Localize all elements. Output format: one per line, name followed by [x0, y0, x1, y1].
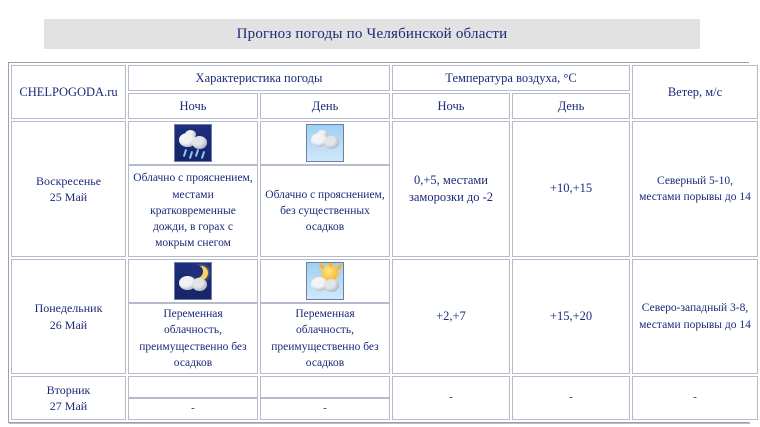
forecast-table: CHELPOGODA.ru Характеристика погоды Темп… [9, 63, 760, 422]
cloudy-day-icon [306, 124, 344, 162]
day-name: Вторник [16, 382, 121, 398]
header-temp-day: День [512, 93, 630, 119]
day-name: Воскресенье [16, 173, 121, 189]
day-date: 26 Май [16, 317, 121, 333]
temp-night-value: 0,+5, местами заморозки до -2 [392, 121, 510, 257]
table-row: Воскресенье 25 Май [11, 121, 758, 257]
day-date: 27 Май [16, 398, 121, 414]
header-weather-night: Ночь [128, 93, 258, 119]
page-title: Прогноз погоды по Челябинской области [237, 26, 508, 43]
table-row: Понедельник 26 Май [11, 259, 758, 374]
weather-day-cell: - [260, 376, 390, 420]
forecast-day-label: Вторник 27 Май [11, 376, 126, 420]
weather-night-cell: Переменная облачность, преимущественно б… [128, 259, 258, 374]
moon-clouds-night-icon [174, 262, 212, 300]
day-date: 25 Май [16, 189, 121, 205]
day-icon-cell [260, 121, 390, 165]
weather-day-cell: Переменная облачность, преимущественно б… [260, 259, 390, 374]
sun-clouds-day-icon [306, 262, 344, 300]
wind-value: Северный 5-10, местами порывы до 14 [632, 121, 758, 257]
day-name: Понедельник [16, 300, 121, 316]
weather-day-cell: Облачно с прояснением, без существенных … [260, 121, 390, 257]
night-icon-cell [128, 121, 258, 165]
temp-night-value: - [392, 376, 510, 420]
night-description: Переменная облачность, преимущественно б… [128, 303, 258, 374]
temp-day-value: +15,+20 [512, 259, 630, 374]
page-title-banner: Прогноз погоды по Челябинской области [44, 19, 700, 49]
cloudy-rain-night-icon [174, 124, 212, 162]
night-icon-cell [128, 376, 258, 398]
temp-night-value: +2,+7 [392, 259, 510, 374]
header-weather-group: Характеристика погоды [128, 65, 390, 91]
temp-day-value: +10,+15 [512, 121, 630, 257]
night-description: Облачно с прояснением, местами кратковре… [128, 165, 258, 257]
night-icon-cell [128, 259, 258, 303]
temp-day-value: - [512, 376, 630, 420]
table-header-row-1: CHELPOGODA.ru Характеристика погоды Темп… [11, 65, 758, 91]
forecast-day-label: Понедельник 26 Май [11, 259, 126, 374]
table-row: Вторник 27 Май - - - - - [11, 376, 758, 420]
header-temperature-group: Температура воздуха, °C [392, 65, 630, 91]
weather-forecast-page: Прогноз погоды по Челябинской области CH… [0, 0, 760, 427]
forecast-day-label: Воскресенье 25 Май [11, 121, 126, 257]
day-description: Переменная облачность, преимущественно б… [260, 303, 390, 374]
weather-night-cell: Облачно с прояснением, местами кратковре… [128, 121, 258, 257]
header-wind: Ветер, м/с [632, 65, 758, 119]
day-icon-cell [260, 376, 390, 398]
forecast-table-container: CHELPOGODA.ru Характеристика погоды Темп… [8, 62, 749, 423]
night-description: - [128, 398, 258, 420]
day-icon-cell [260, 259, 390, 303]
weather-night-cell: - [128, 376, 258, 420]
header-weather-day: День [260, 93, 390, 119]
site-logo: CHELPOGODA.ru [11, 65, 126, 119]
day-description: - [260, 398, 390, 420]
day-description: Облачно с прояснением, без существенных … [260, 165, 390, 257]
wind-value: Северо-западный 3-8, местами порывы до 1… [632, 259, 758, 374]
wind-value: - [632, 376, 758, 420]
header-temp-night: Ночь [392, 93, 510, 119]
